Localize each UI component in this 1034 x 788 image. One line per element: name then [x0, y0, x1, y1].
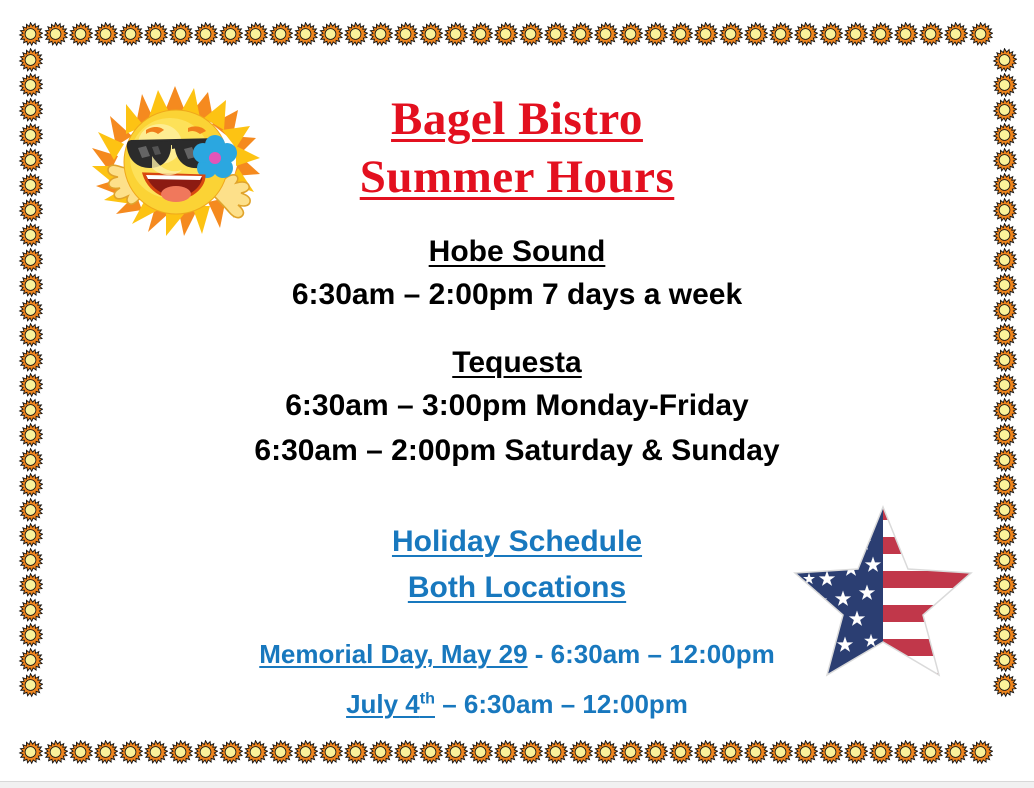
sun-burst-icon [793, 740, 818, 765]
sun-burst-icon [718, 740, 743, 765]
sun-burst-icon [693, 22, 718, 47]
sun-burst-icon [93, 740, 118, 765]
sun-burst-icon [143, 22, 168, 47]
sun-burst-icon [992, 48, 1017, 73]
page-bottom-edge [0, 781, 1034, 788]
holiday-entry: July 4th – 6:30am – 12:00pm [48, 679, 986, 729]
sun-burst-icon [992, 498, 1017, 523]
sun-burst-icon [193, 740, 218, 765]
location-tequesta: Tequesta 6:30am – 3:00pm Monday-Friday 6… [48, 343, 986, 473]
sun-burst-icon [768, 740, 793, 765]
location-name-wrapper: Hobe Sound [48, 232, 986, 272]
sun-burst-icon [18, 273, 43, 298]
sun-burst-icon [992, 323, 1017, 348]
sun-burst-icon [368, 740, 393, 765]
sun-burst-icon [218, 740, 243, 765]
location-name: Hobe Sound [429, 232, 606, 272]
location-hours-line: 6:30am – 2:00pm Saturday & Sunday [48, 428, 986, 473]
sun-burst-icon [18, 148, 43, 173]
sun-burst-icon [443, 740, 468, 765]
sun-burst-icon [518, 740, 543, 765]
sun-burst-icon [818, 740, 843, 765]
border-bottom [18, 740, 993, 765]
holiday-entry-hours: - 6:30am – 12:00pm [528, 639, 775, 669]
sun-burst-icon [18, 598, 43, 623]
sun-burst-icon [393, 740, 418, 765]
sun-burst-icon [992, 273, 1017, 298]
border-right [992, 48, 1017, 698]
sun-burst-icon [992, 398, 1017, 423]
sun-burst-icon [243, 740, 268, 765]
sun-burst-icon [593, 740, 618, 765]
sun-burst-icon [418, 22, 443, 47]
american-flag-star-icon [793, 503, 973, 678]
sun-burst-icon [992, 473, 1017, 498]
sun-burst-icon [18, 473, 43, 498]
sun-burst-icon [18, 173, 43, 198]
sun-burst-icon [643, 740, 668, 765]
sun-burst-icon [18, 22, 43, 47]
sun-burst-icon [943, 740, 968, 765]
summer-hours-flyer: Bagel Bistro Summer Hours Hobe Sound 6:3… [0, 0, 1034, 788]
sun-burst-icon [992, 523, 1017, 548]
sun-burst-icon [18, 548, 43, 573]
sun-burst-icon [193, 22, 218, 47]
sun-burst-icon [468, 22, 493, 47]
sun-burst-icon [843, 740, 868, 765]
sun-burst-icon [18, 248, 43, 273]
sun-burst-icon [693, 740, 718, 765]
location-hours-line: 6:30am – 2:00pm 7 days a week [48, 272, 986, 317]
sun-burst-icon [668, 22, 693, 47]
sun-burst-icon [893, 740, 918, 765]
sun-burst-icon [793, 22, 818, 47]
sun-burst-icon [243, 22, 268, 47]
sun-burst-icon [918, 740, 943, 765]
sun-burst-icon [618, 22, 643, 47]
sun-burst-icon [992, 573, 1017, 598]
sun-burst-icon [18, 98, 43, 123]
sun-burst-icon [68, 740, 93, 765]
sun-burst-icon [968, 22, 993, 47]
sun-burst-icon [543, 22, 568, 47]
sun-burst-icon [18, 523, 43, 548]
sun-burst-icon [18, 123, 43, 148]
sun-burst-icon [668, 740, 693, 765]
holiday-entry-label-text: July 4 [346, 689, 420, 719]
sun-burst-icon [493, 740, 518, 765]
sun-burst-icon [992, 423, 1017, 448]
sun-burst-icon [468, 740, 493, 765]
sun-burst-icon [318, 740, 343, 765]
holiday-entry-label-sup: th [420, 689, 435, 707]
sun-burst-icon [18, 623, 43, 648]
page-title-line1: Bagel Bistro [48, 90, 986, 148]
holiday-entry-label: Memorial Day, May 29 [259, 639, 527, 669]
sun-burst-icon [18, 73, 43, 98]
sun-burst-icon [593, 22, 618, 47]
location-hours-line: 6:30am – 3:00pm Monday-Friday [48, 383, 986, 428]
sun-burst-icon [443, 22, 468, 47]
sun-burst-icon [743, 740, 768, 765]
sun-burst-icon [143, 740, 168, 765]
holiday-heading-line2: Both Locations [408, 565, 626, 611]
sun-burst-icon [343, 22, 368, 47]
sun-burst-icon [992, 298, 1017, 323]
sun-burst-icon [718, 22, 743, 47]
sun-burst-icon [518, 22, 543, 47]
sun-burst-icon [643, 22, 668, 47]
sun-burst-icon [18, 223, 43, 248]
border-left [18, 48, 43, 698]
sun-burst-icon [393, 22, 418, 47]
sun-burst-icon [18, 298, 43, 323]
sun-burst-icon [968, 740, 993, 765]
sun-burst-icon [118, 740, 143, 765]
page-title-line2: Summer Hours [48, 148, 986, 206]
sun-burst-icon [868, 22, 893, 47]
sun-burst-icon [493, 22, 518, 47]
sun-burst-icon [343, 740, 368, 765]
sun-burst-icon [268, 22, 293, 47]
sun-burst-icon [218, 22, 243, 47]
sun-burst-icon [992, 598, 1017, 623]
sun-burst-icon [543, 740, 568, 765]
sun-burst-icon [318, 22, 343, 47]
sun-burst-icon [618, 740, 643, 765]
sun-burst-icon [743, 22, 768, 47]
page-title-line2-text: Summer Hours [360, 151, 675, 203]
sun-burst-icon [118, 22, 143, 47]
sun-burst-icon [18, 573, 43, 598]
sun-burst-icon [293, 740, 318, 765]
holiday-entry-hours: – 6:30am – 12:00pm [435, 689, 688, 719]
sun-burst-icon [992, 448, 1017, 473]
sun-burst-icon [818, 22, 843, 47]
sun-burst-icon [992, 248, 1017, 273]
sun-burst-icon [992, 123, 1017, 148]
sun-burst-icon [418, 740, 443, 765]
sun-burst-icon [43, 740, 68, 765]
sun-burst-icon [943, 22, 968, 47]
sun-burst-icon [93, 22, 118, 47]
sun-burst-icon [18, 398, 43, 423]
location-hobe-sound: Hobe Sound 6:30am – 2:00pm 7 days a week [48, 232, 986, 317]
location-name-wrapper: Tequesta [48, 343, 986, 383]
sun-burst-icon [992, 198, 1017, 223]
sun-burst-icon [992, 648, 1017, 673]
sun-burst-icon [18, 323, 43, 348]
sun-burst-icon [168, 22, 193, 47]
sun-burst-icon [992, 223, 1017, 248]
sun-burst-icon [992, 148, 1017, 173]
sun-burst-icon [992, 98, 1017, 123]
sun-burst-icon [18, 448, 43, 473]
sun-burst-icon [68, 22, 93, 47]
sun-burst-icon [992, 348, 1017, 373]
sun-burst-icon [893, 22, 918, 47]
sun-burst-icon [268, 740, 293, 765]
sun-burst-icon [768, 22, 793, 47]
sun-burst-icon [18, 48, 43, 73]
sun-burst-icon [168, 740, 193, 765]
sun-burst-icon [18, 673, 43, 698]
sun-burst-icon [293, 22, 318, 47]
border-top [18, 22, 993, 47]
sun-burst-icon [992, 548, 1017, 573]
sun-burst-icon [43, 22, 68, 47]
sun-burst-icon [368, 22, 393, 47]
sun-burst-icon [18, 740, 43, 765]
location-name: Tequesta [452, 343, 581, 383]
holiday-heading-line1: Holiday Schedule [392, 519, 642, 565]
sun-burst-icon [868, 740, 893, 765]
page-title-line1-text: Bagel Bistro [391, 93, 643, 145]
sun-burst-icon [18, 348, 43, 373]
sun-burst-icon [992, 73, 1017, 98]
sun-burst-icon [992, 623, 1017, 648]
sun-burst-icon [992, 373, 1017, 398]
sun-burst-icon [568, 22, 593, 47]
sun-burst-icon [843, 22, 868, 47]
sun-burst-icon [18, 498, 43, 523]
sun-burst-icon [18, 648, 43, 673]
sun-burst-icon [568, 740, 593, 765]
holiday-entry-label: July 4th [346, 689, 435, 719]
sun-burst-icon [18, 423, 43, 448]
sun-burst-icon [992, 673, 1017, 698]
sun-burst-icon [18, 198, 43, 223]
sun-burst-icon [992, 173, 1017, 198]
sun-burst-icon [18, 373, 43, 398]
sun-burst-icon [918, 22, 943, 47]
